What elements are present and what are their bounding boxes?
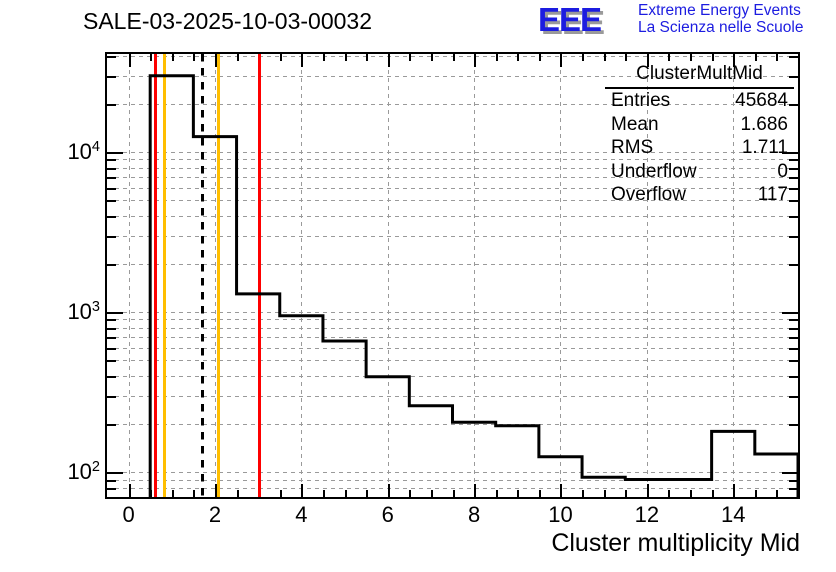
stats-row-label: Overflow [611, 183, 686, 206]
x-axis-tick-label: 10 [548, 502, 572, 528]
x-axis-title: Cluster multiplicity Mid [551, 529, 800, 558]
x-axis-tick-label: 4 [295, 502, 307, 528]
stats-title: ClusterMultMid [605, 62, 794, 89]
x-axis-tick-label: 2 [209, 502, 221, 528]
y-axis-tick-label: 104 [67, 139, 100, 165]
root-canvas: SALE-03-2025-10-03-00032 EEE Extreme Ene… [0, 0, 836, 572]
stats-row-value: 1.686 [740, 113, 788, 136]
eee-logo: EEE Extreme Energy Events La Scienza nel… [538, 2, 830, 38]
stats-row-label: RMS [611, 136, 653, 159]
stats-row-label: Mean [611, 113, 659, 136]
eee-logo-line2: La Scienza nelle Scuole [638, 19, 803, 36]
stats-row: RMS1.711 [611, 136, 788, 159]
stats-row-label: Underflow [611, 160, 697, 183]
stats-row-value: 1.711 [742, 136, 788, 159]
stats-row: Underflow0 [611, 160, 788, 183]
stats-row-value: 117 [758, 183, 788, 206]
x-axis-tick-label: 8 [468, 502, 480, 528]
x-axis-tick-label: 0 [122, 502, 134, 528]
eee-logo-text: Extreme Energy Events La Scienza nelle S… [638, 2, 803, 36]
y-axis-tick-label: 103 [67, 299, 100, 325]
stats-row: Entries45684 [611, 89, 788, 112]
stats-row-value: 0 [777, 160, 788, 183]
stats-row: Overflow117 [611, 183, 788, 206]
eee-logo-line1: Extreme Energy Events [638, 2, 803, 19]
x-axis-tick-label: 12 [635, 502, 659, 528]
y-axis-tick-label: 102 [67, 459, 100, 485]
page-title: SALE-03-2025-10-03-00032 [83, 8, 372, 35]
stats-row-label: Entries [611, 89, 670, 112]
x-axis-tick-label: 6 [382, 502, 394, 528]
x-axis-tick-label: 14 [721, 502, 745, 528]
stats-row: Mean1.686 [611, 113, 788, 136]
stats-box: ClusterMultMid Entries45684Mean1.686RMS1… [605, 62, 794, 208]
eee-logo-mark: EEE [538, 3, 630, 36]
stats-row-value: 45684 [735, 89, 788, 112]
